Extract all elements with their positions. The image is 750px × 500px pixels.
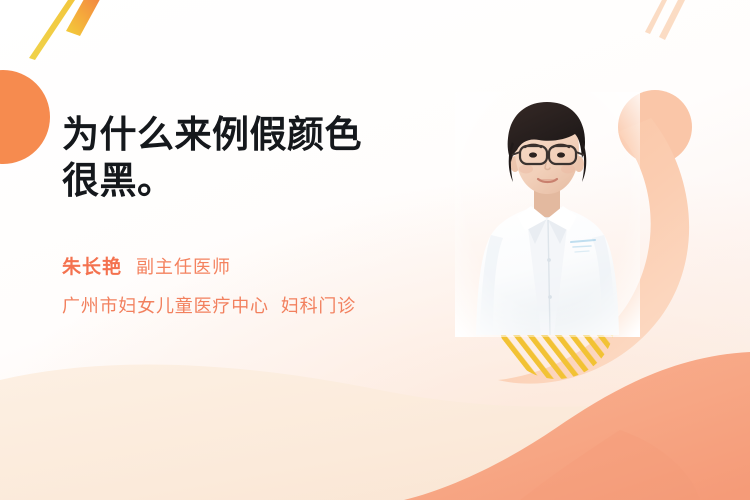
doctor-name: 朱长艳: [62, 252, 122, 279]
doctor-affiliation-row: 广州市妇女儿童医疗中心 妇科门诊: [62, 292, 462, 318]
page-title: 为什么来例假颜色 很黑。: [62, 112, 462, 204]
text-content: 为什么来例假颜色 很黑。 朱长艳 副主任医师 广州市妇女儿童医疗中心 妇科门诊: [62, 112, 462, 318]
hospital-name: 广州市妇女儿童医疗中心: [62, 292, 269, 318]
doctor-credit-row: 朱长艳 副主任医师: [62, 252, 462, 279]
doctor-title: 副主任医师: [136, 253, 231, 279]
department-name: 妇科门诊: [281, 292, 356, 318]
promo-card: 为什么来例假颜色 很黑。 朱长艳 副主任医师 广州市妇女儿童医疗中心 妇科门诊: [0, 0, 750, 500]
